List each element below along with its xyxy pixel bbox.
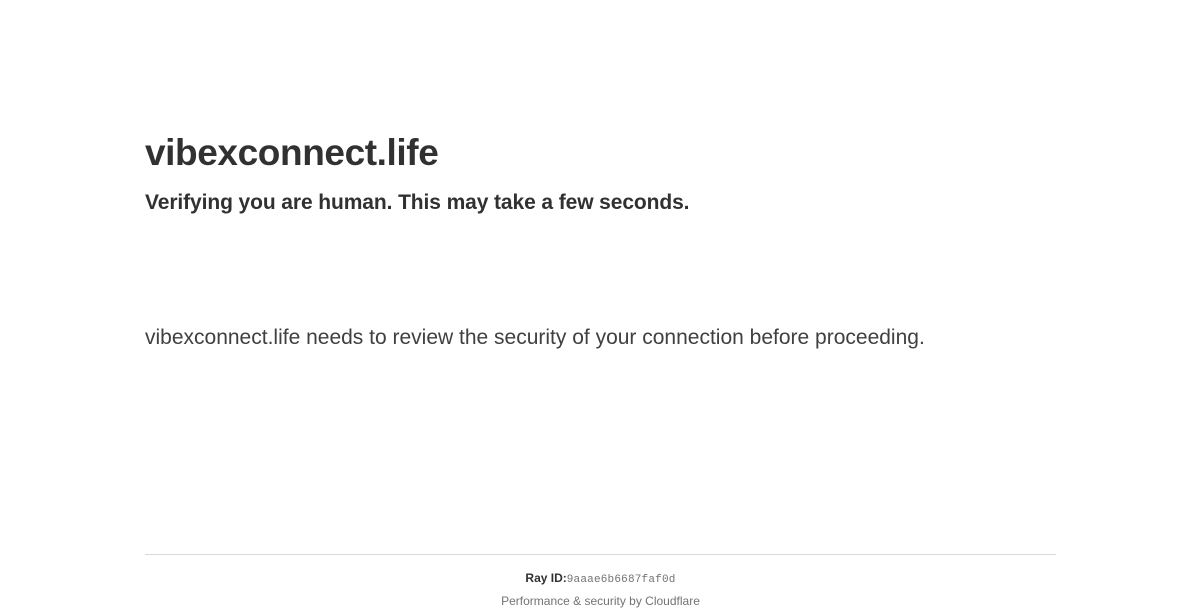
cloudflare-brand-link[interactable]: Cloudflare (645, 594, 700, 608)
ray-id-value: 9aaae6b6687faf0d (567, 574, 676, 586)
challenge-page: vibexconnect.life Verifying you are huma… (0, 0, 1200, 600)
attribution-line: Performance & security by Cloudflare (145, 587, 1056, 608)
security-review-message: vibexconnect.life needs to review the se… (145, 320, 945, 356)
attribution-prefix: Performance & security by (501, 594, 645, 608)
challenge-widget-slot[interactable] (145, 216, 1056, 320)
main-content: vibexconnect.life Verifying you are huma… (145, 0, 1056, 356)
ray-id-line: Ray ID:9aaae6b6687faf0d (145, 555, 1056, 587)
verification-subtitle: Verifying you are human. This may take a… (145, 175, 1056, 216)
ray-id-label: Ray ID: (525, 571, 566, 585)
page-title: vibexconnect.life (145, 0, 1056, 175)
